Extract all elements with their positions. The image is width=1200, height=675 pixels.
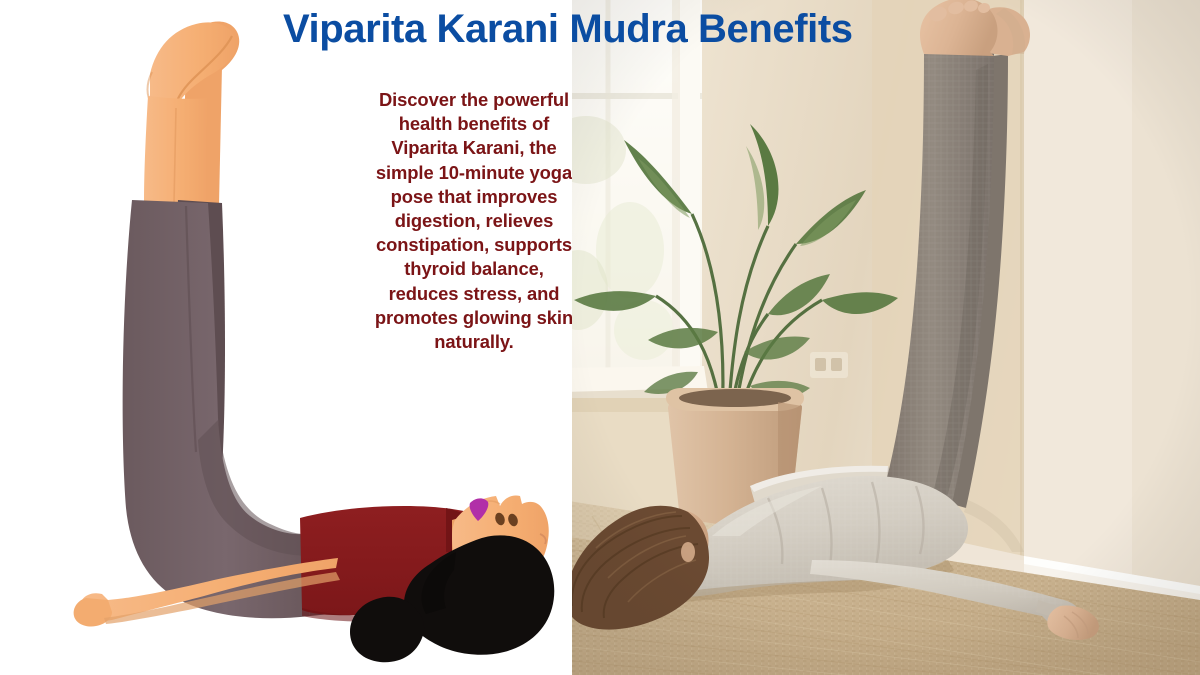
body-copy: Discover the powerful health benefits of… (373, 88, 572, 354)
viparita-karani-pose-photo (572, 0, 1200, 675)
infographic-canvas: Discover the powerful health benefits of… (0, 0, 1200, 675)
right-panel (572, 0, 1200, 675)
left-panel: Discover the powerful health benefits of… (0, 0, 572, 675)
page-title: Viparita Karani Mudra Benefits (283, 6, 973, 54)
illustration-front-shin (144, 96, 208, 205)
